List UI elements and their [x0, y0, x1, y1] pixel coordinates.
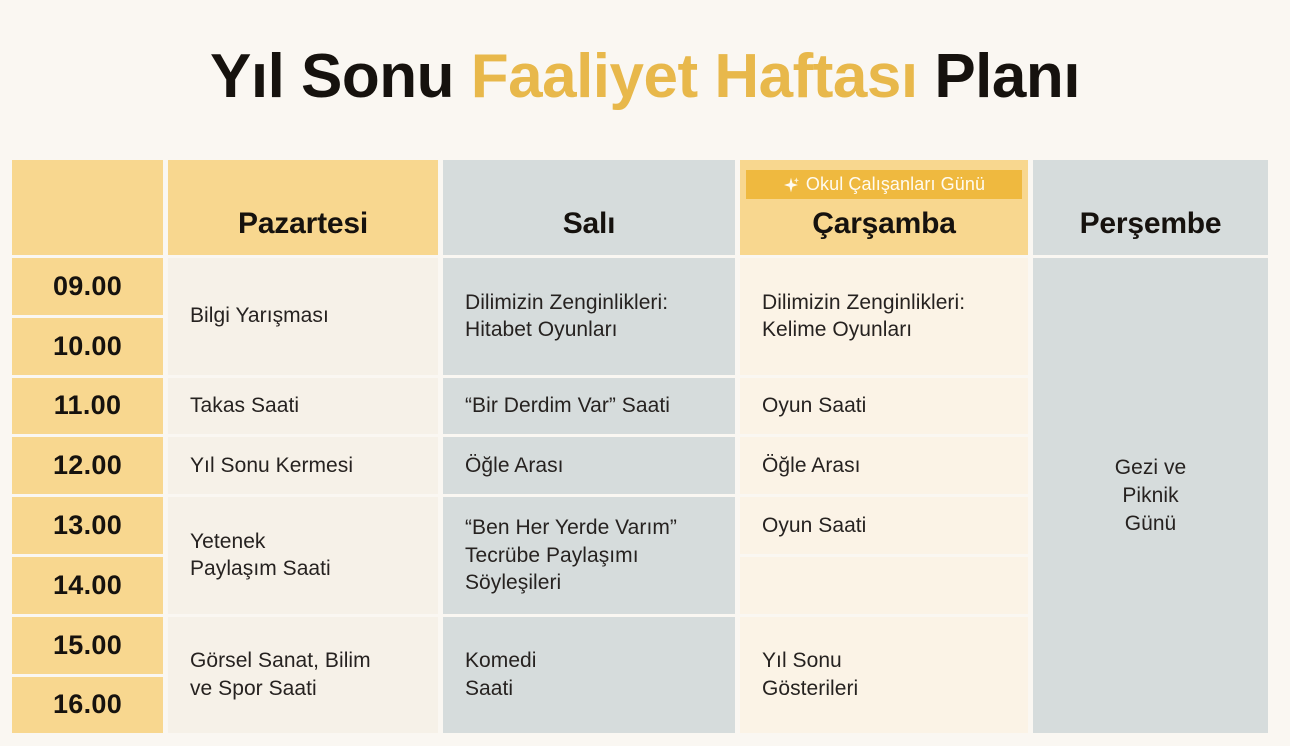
header-day-label: Çarşamba [812, 207, 955, 241]
activity-label: Görsel Sanat, Bilimve Spor Saati [190, 647, 371, 702]
time-label: 10.00 [53, 331, 122, 362]
header-time-column [12, 160, 163, 255]
header-day-pazartesi: Pazartesi [168, 160, 438, 255]
activity-cell: Öğle Arası [740, 437, 1028, 494]
activity-cell: KomediSaati [443, 617, 735, 734]
activity-label: Dilimizin Zenginlikleri:Hitabet Oyunları [465, 289, 668, 344]
activity-label: Oyun Saati [762, 392, 866, 420]
activity-cell: Takas Saati [168, 378, 438, 435]
activity-label: “Bir Derdim Var” Saati [465, 392, 670, 420]
time-slot: 14.00 [12, 557, 163, 614]
activity-label: Yıl SonuGösterileri [762, 647, 858, 702]
time-label: 14.00 [53, 570, 122, 601]
header-day-label: Perşembe [1080, 207, 1222, 241]
activity-label: Takas Saati [190, 392, 299, 420]
activity-label: Öğle Arası [465, 452, 564, 480]
activity-label: Gezi vePiknikGünü [1115, 454, 1187, 537]
header-day-label: Salı [563, 207, 616, 241]
header-day-label: Pazartesi [238, 207, 368, 241]
activity-label: Oyun Saati [762, 512, 866, 540]
staff-day-badge: Okul Çalışanları Günü [746, 170, 1022, 199]
time-slot: 11.00 [12, 378, 163, 435]
schedule-table: Pazartesi Salı Okul Çalışanları Günü Çar… [12, 160, 1264, 710]
time-label: 15.00 [53, 630, 122, 661]
activity-cell: “Bir Derdim Var” Saati [443, 378, 735, 435]
activity-cell: Görsel Sanat, Bilimve Spor Saati [168, 617, 438, 734]
title-segment-1: Yıl Sonu [210, 42, 471, 111]
time-slot: 10.00 [12, 318, 163, 375]
time-label: 11.00 [54, 390, 122, 421]
activity-cell: YetenekPaylaşım Saati [168, 497, 438, 614]
activity-label: YetenekPaylaşım Saati [190, 528, 331, 583]
activity-cell-merged: Gezi vePiknikGünü [1033, 258, 1268, 733]
activity-cell: Oyun Saati [740, 497, 1028, 554]
time-slot: 09.00 [12, 258, 163, 315]
activity-label: Dilimizin Zenginlikleri:Kelime Oyunları [762, 289, 965, 344]
activity-cell: Dilimizin Zenginlikleri:Hitabet Oyunları [443, 258, 735, 375]
time-label: 09.00 [53, 271, 122, 302]
time-label: 16.00 [53, 689, 122, 720]
time-label: 13.00 [53, 510, 122, 541]
time-slot: 15.00 [12, 617, 163, 674]
title-text: Yıl Sonu Faaliyet Haftası Planı [0, 44, 1290, 109]
activity-cell: Yıl Sonu Kermesi [168, 437, 438, 494]
activity-cell: Öğle Arası [443, 437, 735, 494]
activity-cell: “Ben Her Yerde Varım”Tecrübe PaylaşımıSö… [443, 497, 735, 614]
activity-cell: Bilgi Yarışması [168, 258, 438, 375]
time-slot: 16.00 [12, 677, 163, 734]
activity-cell: Dilimizin Zenginlikleri:Kelime Oyunları [740, 258, 1028, 375]
header-day-carsamba: Okul Çalışanları Günü Çarşamba [740, 160, 1028, 255]
activity-label: Yıl Sonu Kermesi [190, 452, 353, 480]
activity-label: Öğle Arası [762, 452, 861, 480]
time-label: 12.00 [53, 450, 122, 481]
time-slot: 13.00 [12, 497, 163, 554]
activity-label: KomediSaati [465, 647, 537, 702]
header-day-persembe: Perşembe [1033, 160, 1268, 255]
activity-cell: Oyun Saati [740, 378, 1028, 435]
title-segment-3: Planı [918, 42, 1080, 111]
header-day-sali: Salı [443, 160, 735, 255]
sparkle-icon [783, 177, 799, 193]
time-slot: 12.00 [12, 437, 163, 494]
staff-day-badge-label: Okul Çalışanları Günü [806, 174, 985, 195]
title-segment-highlight: Faaliyet Haftası [471, 42, 918, 111]
page-title: Yıl Sonu Faaliyet Haftası Planı [0, 0, 1290, 127]
activity-label: “Ben Her Yerde Varım”Tecrübe PaylaşımıSö… [465, 514, 677, 597]
activity-cell-empty [740, 557, 1028, 614]
activity-label: Bilgi Yarışması [190, 302, 329, 330]
activity-cell: Yıl SonuGösterileri [740, 617, 1028, 734]
